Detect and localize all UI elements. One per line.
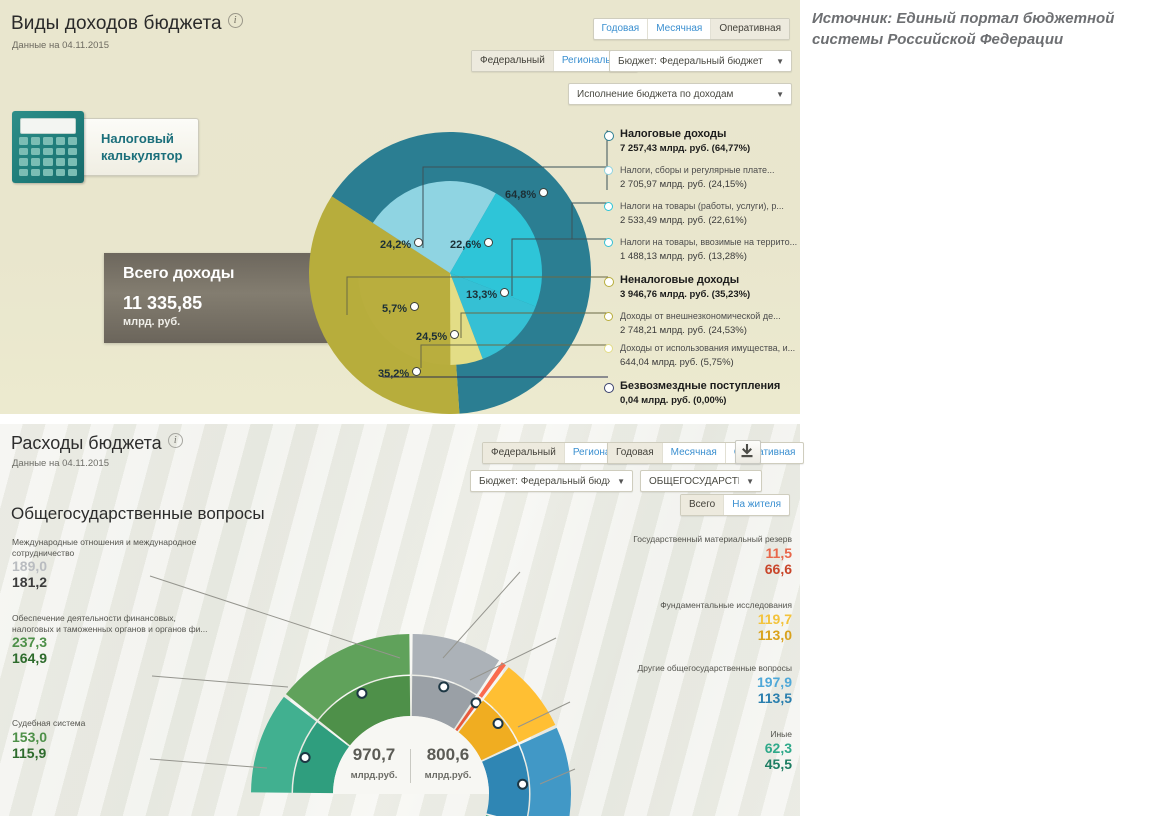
gauge-knob-1[interactable] <box>357 689 366 698</box>
tax-calculator-button[interactable]: Налоговый калькулятор <box>12 111 199 183</box>
donut-percent-label-6: 35,2% <box>378 367 421 380</box>
donut-pct-knob-3[interactable] <box>500 288 509 297</box>
legend-bullet-icon-6 <box>604 344 613 353</box>
expense-scope-tab-1[interactable]: На жителя <box>724 495 789 515</box>
legend-value-4: 3 946,76 млрд. руб. (35,23%) <box>620 289 750 300</box>
donut-svg <box>300 128 600 414</box>
donut-pct-text-4: 5,7% <box>382 303 407 315</box>
legend-label-0: Налоговые доходы <box>620 128 750 141</box>
donut-pct-text-1: 24,2% <box>380 239 411 251</box>
expense-label-caption-1: Обеспечение деятельности финансовых, нал… <box>12 613 208 634</box>
legend-value-1: 2 705,97 млрд. руб. (24,15%) <box>620 179 774 190</box>
expense-fact-value-0: 181,2 <box>12 574 208 590</box>
expense-label-2[interactable]: Судебная система153,0115,9 <box>12 718 208 761</box>
income-period-tab-1[interactable]: Месячная <box>648 19 711 39</box>
expense-section-select[interactable]: ОБЩЕГОСУДАРСТВЕННЫ ▼ <box>640 470 762 492</box>
donut-pct-text-0: 64,8% <box>505 189 536 201</box>
legend-item-7[interactable]: Безвозмездные поступления0,04 млрд. руб.… <box>604 380 780 406</box>
legend-value-2: 2 533,49 млрд. руб. (22,61%) <box>620 215 784 226</box>
expense-label-caption-0: Международные отношения и международное … <box>12 537 208 558</box>
download-icon <box>736 441 758 461</box>
expense-label-1[interactable]: Обеспечение деятельности финансовых, нал… <box>12 613 208 666</box>
gauge-fact-value: 800,6 <box>411 745 485 765</box>
donut-pct-knob-2[interactable] <box>484 238 493 247</box>
legend-bullet-icon-5 <box>604 312 613 321</box>
expense-plan-value-1: 237,3 <box>12 634 208 650</box>
legend-label-1: Налоги, сборы и регулярные плате... <box>620 164 774 177</box>
chevron-down-icon: ▼ <box>769 57 791 66</box>
calculator-keys <box>19 137 77 176</box>
legend-label-7: Безвозмездные поступления <box>620 380 780 393</box>
expense-label-4[interactable]: Фундаментальные исследования119,7113,0 <box>596 600 792 643</box>
gauge-knob-0[interactable] <box>439 682 448 691</box>
expense-period-tabs[interactable]: ГодоваяМесячнаяОперативная <box>607 442 804 464</box>
income-budget-select-value: Бюджет: Федеральный бюджет <box>610 56 769 67</box>
legend-value-6: 644,04 млрд. руб. (5,75%) <box>620 357 795 368</box>
legend-label-5: Доходы от внешнезкономической де... <box>620 310 781 323</box>
expense-data-date: Данные на 04.11.2015 <box>12 458 109 469</box>
legend-item-1[interactable]: Налоги, сборы и регулярные плате...2 705… <box>604 164 774 190</box>
expense-period-tab-1[interactable]: Месячная <box>663 443 726 463</box>
expense-label-caption-3: Государственный материальный резерв <box>596 534 792 545</box>
donut-pct-knob-1[interactable] <box>414 238 423 247</box>
income-period-tab-2[interactable]: Оперативная <box>711 19 789 39</box>
donut-percent-label-4: 5,7% <box>382 302 419 315</box>
donut-pct-text-3: 13,3% <box>466 289 497 301</box>
income-budget-select[interactable]: Бюджет: Федеральный бюджет ▼ <box>609 50 792 72</box>
info-icon[interactable]: i <box>168 433 183 448</box>
income-kind-select-value: Исполнение бюджета по доходам <box>569 89 769 100</box>
gauge-plan-unit: млрд.руб. <box>337 770 411 781</box>
expense-plan-value-0: 189,0 <box>12 558 208 574</box>
donut-pct-text-6: 35,2% <box>378 368 409 380</box>
donut-percent-label-5: 24,5% <box>416 330 459 343</box>
expense-plan-value-5: 197,9 <box>596 674 792 690</box>
legend-item-0[interactable]: Налоговые доходы7 257,43 млрд. руб. (64,… <box>604 128 750 154</box>
gauge-center-divider <box>410 749 411 783</box>
legend-value-0: 7 257,43 млрд. руб. (64,77%) <box>620 143 750 154</box>
legend-value-5: 2 748,21 млрд. руб. (24,53%) <box>620 325 781 336</box>
expense-label-caption-6: Иные <box>596 729 792 740</box>
total-income-value: 11 335,85 <box>123 293 202 314</box>
legend-label-4: Неналоговые доходы <box>620 274 750 287</box>
legend-label-6: Доходы от использования имущества, и... <box>620 342 795 355</box>
source-note: Источник: Единый портал бюджетной систем… <box>812 8 1146 50</box>
gauge-fact-unit: млрд.руб. <box>411 770 485 781</box>
legend-item-2[interactable]: Налоги на товары (работы, услуги), р...2… <box>604 200 784 226</box>
donut-pct-knob-4[interactable] <box>410 302 419 311</box>
income-budget-panel: Виды доходов бюджетаi Данные на 04.11.20… <box>0 0 800 414</box>
calc-label-line2: калькулятор <box>101 147 182 164</box>
legend-bullet-icon-4 <box>604 277 614 287</box>
expense-level-tab-0[interactable]: Федеральный <box>483 443 565 463</box>
expense-plan-value-4: 119,7 <box>596 611 792 627</box>
donut-percent-label-1: 24,2% <box>380 238 423 251</box>
expense-plan-value-2: 153,0 <box>12 729 208 745</box>
expense-label-3[interactable]: Государственный материальный резерв11,56… <box>596 534 792 577</box>
download-button[interactable] <box>735 440 761 464</box>
gauge-center-values: 970,7800,6 млрд.руб.млрд.руб. <box>328 745 494 807</box>
expense-plan-value-6: 62,3 <box>596 740 792 756</box>
legend-value-3: 1 488,13 млрд. руб. (13,28%) <box>620 251 797 262</box>
expense-scope-tabs[interactable]: ВсегоНа жителя <box>680 494 790 516</box>
legend-item-6[interactable]: Доходы от использования имущества, и...6… <box>604 342 795 368</box>
legend-label-3: Налоги на товары, ввозимые на террито... <box>620 236 797 249</box>
donut-pct-knob-5[interactable] <box>450 330 459 339</box>
income-kind-select[interactable]: Исполнение бюджета по доходам ▼ <box>568 83 792 105</box>
income-period-tabs[interactable]: ГодоваяМесячнаяОперативная <box>593 18 790 40</box>
legend-bullet-icon-1 <box>604 166 613 175</box>
income-title-text: Виды доходов бюджета <box>11 13 222 34</box>
gauge-knob-5[interactable] <box>518 780 527 789</box>
legend-item-4[interactable]: Неналоговые доходы3 946,76 млрд. руб. (3… <box>604 274 750 300</box>
donut-pct-knob-6[interactable] <box>412 367 421 376</box>
legend-bullet-icon-7 <box>604 383 614 393</box>
chevron-down-icon: ▼ <box>739 477 761 486</box>
total-income-caption: Всего доходы <box>123 265 234 283</box>
expense-title-text: Расходы бюджета <box>11 433 162 453</box>
chevron-down-icon: ▼ <box>769 90 791 99</box>
expense-period-tab-0[interactable]: Годовая <box>608 443 663 463</box>
expense-budget-select-value: Бюджет: Федеральный бюджет <box>471 476 610 487</box>
expense-fact-value-4: 113,0 <box>596 627 792 643</box>
calc-label-line1: Налоговый <box>101 130 182 147</box>
donut-percent-label-0: 64,8% <box>505 188 548 201</box>
income-level-tab-0[interactable]: Федеральный <box>472 51 554 71</box>
legend-item-5[interactable]: Доходы от внешнезкономической де...2 748… <box>604 310 781 336</box>
page-title: Виды доходов бюджетаi <box>11 13 243 35</box>
legend-bullet-icon-2 <box>604 202 613 211</box>
info-icon[interactable]: i <box>228 13 243 28</box>
donut-percent-label-3: 13,3% <box>466 288 509 301</box>
donut-percent-label-2: 22,6% <box>450 238 493 251</box>
expense-fact-value-5: 113,5 <box>596 690 792 706</box>
expense-label-5[interactable]: Другие общегосударственные вопросы197,91… <box>596 663 792 706</box>
expense-label-caption-4: Фундаментальные исследования <box>596 600 792 611</box>
gauge-knob-4[interactable] <box>494 719 503 728</box>
tax-calculator-label: Налоговый калькулятор <box>80 118 199 176</box>
income-data-date: Данные на 04.11.2015 <box>12 40 109 51</box>
expense-section-select-value: ОБЩЕГОСУДАРСТВЕННЫ <box>641 476 739 487</box>
legend-label-2: Налоги на товары (работы, услуги), р... <box>620 200 784 213</box>
income-period-tab-0[interactable]: Годовая <box>594 19 649 39</box>
legend-item-3[interactable]: Налоги на товары, ввозимые на террито...… <box>604 236 797 262</box>
expense-scope-tab-0[interactable]: Всего <box>681 495 724 515</box>
expense-label-6[interactable]: Иные62,345,5 <box>596 729 792 772</box>
donut-pct-text-2: 22,6% <box>450 239 481 251</box>
expense-fact-value-2: 115,9 <box>12 745 208 761</box>
legend-bullet-icon-3 <box>604 238 613 247</box>
legend-bullet-icon-0 <box>604 131 614 141</box>
expense-fact-value-1: 164,9 <box>12 650 208 666</box>
expense-fact-value-3: 66,6 <box>596 561 792 577</box>
gauge-knob-2[interactable] <box>301 753 310 762</box>
total-income-unit: млрд. руб. <box>123 316 180 328</box>
income-donut-chart: 64,8%24,2%22,6%13,3%5,7%24,5%35,2% <box>300 128 600 414</box>
calculator-screen <box>20 118 76 134</box>
calculator-icon <box>12 111 84 183</box>
donut-pct-knob-0[interactable] <box>539 188 548 197</box>
expense-fact-value-6: 45,5 <box>596 756 792 772</box>
chevron-down-icon: ▼ <box>610 477 632 486</box>
expense-label-caption-2: Судебная система <box>12 718 208 729</box>
expense-budget-select[interactable]: Бюджет: Федеральный бюджет ▼ <box>470 470 633 492</box>
expense-label-caption-5: Другие общегосударственные вопросы <box>596 663 792 674</box>
legend-value-7: 0,04 млрд. руб. (0,00%) <box>620 395 780 406</box>
donut-pct-text-5: 24,5% <box>416 331 447 343</box>
expense-label-0[interactable]: Международные отношения и международное … <box>12 537 208 590</box>
expense-section-heading: Общегосударственные вопросы <box>11 504 265 524</box>
expense-title: Расходы бюджетаi <box>11 433 183 454</box>
gauge-plan-value: 970,7 <box>337 745 411 765</box>
expense-plan-value-3: 11,5 <box>596 545 792 561</box>
